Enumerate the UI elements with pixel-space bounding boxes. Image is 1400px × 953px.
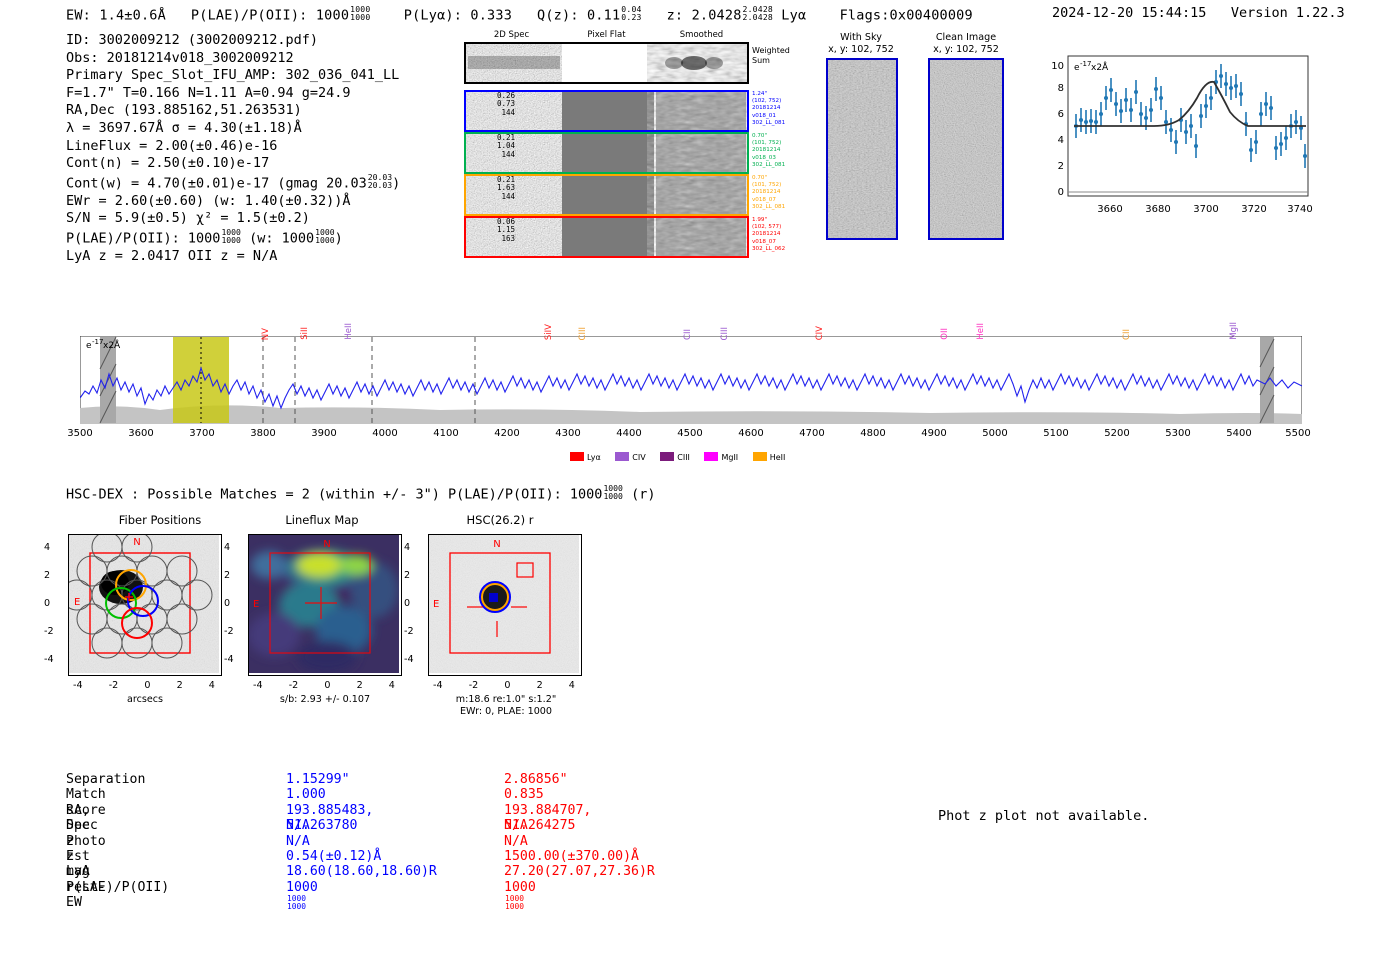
hscdex-plae-range: 10001000 <box>603 484 623 500</box>
cutout-withsky-title: With Skyx, y: 102, 752 <box>806 32 916 55</box>
row-m2-match-score: 0.835 <box>504 787 544 802</box>
hsc-r-yticks: 42 0-2-4 <box>404 534 414 674</box>
info-plae-w-range: 10001000 <box>315 228 335 244</box>
line-label-nv: NV <box>261 328 271 340</box>
info-plae: P(LAE)/P(OII): 100010001000 (w: 10001000… <box>66 228 400 248</box>
info-radec: RA,Dec (193.885162,51.263531) <box>66 102 400 120</box>
panel-title-hsc-r: HSC(26.2) r <box>400 513 600 527</box>
svg-text:N: N <box>133 537 140 548</box>
spectrum-line-labels: NV SiII HeII SiIV CIII CII CIII CIV OII … <box>80 306 1302 340</box>
timestamp-version: 2024-12-20 15:44:15 Version 1.22.3 <box>1052 5 1345 21</box>
info-plae-range: 10001000 <box>221 228 241 244</box>
xtick-4200: 4200 <box>487 428 527 439</box>
fiber-positions-image: N E <box>68 534 222 676</box>
svg-text:10: 10 <box>1051 61 1064 72</box>
col-title-2dspec: 2D Spec <box>464 30 559 40</box>
report-datetime: 2024-12-20 15:44:15 <box>1052 5 1206 21</box>
info-redshifts: LyA z = 2.0417 OII z = N/A <box>66 248 400 266</box>
xtick-5100: 5100 <box>1036 428 1076 439</box>
legend-mgii: MgII <box>704 452 738 462</box>
row-m2-est-lya-ew: 1500.00(±370.00)Å <box>504 849 639 864</box>
line-label-ciii-2: CIII <box>720 327 730 340</box>
row-label-plae: P(LAE)/P(OII) <box>66 880 169 895</box>
row-m1-photo-z: N/A <box>286 834 310 849</box>
xtick-4600: 4600 <box>731 428 771 439</box>
svg-text:4: 4 <box>1058 135 1064 146</box>
qz-range: 0.040.23 <box>621 5 641 21</box>
weighted-sum-label: Weighted Sum <box>752 46 790 66</box>
xtick-4800: 4800 <box>853 428 893 439</box>
xtick-5500: 5500 <box>1278 428 1318 439</box>
plya-label: P(Lyα): <box>404 7 462 23</box>
legend-heii: HeII <box>753 452 786 462</box>
line-label-mgii: MgII <box>1229 322 1239 340</box>
xtick-4700: 4700 <box>792 428 832 439</box>
svg-text:3660: 3660 <box>1097 204 1122 215</box>
xtick-3800: 3800 <box>243 428 283 439</box>
ew-value: 1.4±0.6Å <box>99 7 166 23</box>
legend-ciii: CIII <box>660 452 690 462</box>
line-fit-plot: 024 6810 366036803700 37203740 e -17 x2Å <box>1034 52 1314 224</box>
fiber-positions-xticks: -4-2 024 <box>60 680 228 691</box>
info-seeing-throughput: F=1.7" T=0.166 N=1.11 A=0.94 g=24.9 <box>66 85 400 103</box>
xtick-4900: 4900 <box>914 428 954 439</box>
svg-text:3720: 3720 <box>1241 204 1266 215</box>
xtick-5000: 5000 <box>975 428 1015 439</box>
svg-text:3740: 3740 <box>1287 204 1312 215</box>
row-label-mag: mag <box>66 864 90 879</box>
row-m1-separation: 1.15299" <box>286 772 350 787</box>
legend-swatch-mgii <box>704 452 718 461</box>
svg-text:E: E <box>253 599 259 610</box>
row-m1-plae: 100010001000 <box>286 880 318 913</box>
info-wavelength-sigma: λ = 3697.67Å σ = 4.30(±1.18)Å <box>66 120 400 138</box>
svg-text:2: 2 <box>1058 161 1064 172</box>
row-m2-separation: 2.86856" <box>504 772 568 787</box>
line-label-oii: OII <box>940 328 950 340</box>
col-title-pixelflat: Pixel Flat <box>559 30 654 40</box>
legend-swatch-heii <box>753 452 767 461</box>
col-title-smoothed: Smoothed <box>654 30 749 40</box>
fiber-strip-1-meta: 1.24"(102, 752) 20181214v018_01302_LL_08… <box>752 91 785 127</box>
lineflux-map-caption: s/b: 2.93 +/- 0.107 <box>240 694 410 706</box>
hscdex-match-summary: HSC-DEX : Possible Matches = 2 (within +… <box>66 484 655 502</box>
row-m2-plae: 100010001000 <box>504 880 536 913</box>
svg-text:3700: 3700 <box>1193 204 1218 215</box>
row-m2-mag: 27.20(27.07,27.36)R <box>504 864 655 879</box>
svg-text:0: 0 <box>1058 187 1064 198</box>
svg-text:N: N <box>323 539 330 550</box>
flags-label: Flags:0x00400009 <box>840 7 973 23</box>
hsc-r-image: N E <box>428 534 582 676</box>
z-value: 2.0428 <box>692 7 742 23</box>
xtick-4400: 4400 <box>609 428 649 439</box>
svg-text:E: E <box>74 597 80 608</box>
xtick-5400: 5400 <box>1219 428 1259 439</box>
line-label-siiv: SiIV <box>544 324 554 340</box>
qz-value: 0.11 <box>587 7 620 23</box>
cutout-clean-image <box>928 58 1004 240</box>
fiber-strip-1-metrics: 0.260.73144 <box>497 92 515 117</box>
full-spectrum-plot: 510 e -17 x2Å <box>80 336 1302 424</box>
hsc-r-caption-line2: EWr: 0, PLAE: 1000 <box>418 706 594 718</box>
fiber-strip-4-metrics: 0.061.15163 <box>497 218 515 243</box>
legend-swatch-civ <box>615 452 629 461</box>
lineflux-map-xticks: -4-2 024 <box>240 680 408 691</box>
plae-label: P(LAE)/P(OII): <box>191 7 308 23</box>
hsc-r-caption: m:18.6 re:1.0" s:1.2" EWr: 0, PLAE: 1000 <box>418 694 594 718</box>
weighted-sum-strip <box>464 42 749 84</box>
panel-title-lineflux-map: Lineflux Map <box>222 513 422 527</box>
spectrum-legend: Lyα CIV CIII MgII HeII <box>570 452 797 462</box>
qz-label: Q(z): <box>537 7 579 23</box>
fiber-strip-3-metrics: 0.211.63144 <box>497 176 515 201</box>
xtick-3500: 3500 <box>60 428 100 439</box>
fiber-positions-yticks: 42 0-2-4 <box>44 534 54 674</box>
weighted-sum-image <box>466 44 747 82</box>
lineflux-map-image: N E <box>248 534 402 676</box>
z-label: z: <box>667 7 684 23</box>
xtick-3700: 3700 <box>182 428 222 439</box>
full-spectrum-svg: 510 e -17 x2Å <box>80 336 1302 424</box>
ew-label: EW: <box>66 7 91 23</box>
info-id: ID: 3002009212 (3002009212.pdf) <box>66 32 400 50</box>
plya-value: 0.333 <box>470 7 512 23</box>
fiber-strip-2-meta: 0.70"(101, 752) 20181214v018_03302_LL_08… <box>752 133 785 169</box>
info-sn-chi2: S/N = 5.9(±0.5) χ² = 1.5(±0.2) <box>66 210 400 228</box>
z-line-name: Lyα <box>781 7 806 23</box>
source-info-block: ID: 3002009212 (3002009212.pdf) Obs: 201… <box>66 32 400 265</box>
row-label-separation: Separation <box>66 772 145 787</box>
svg-text:3680: 3680 <box>1145 204 1170 215</box>
info-ewr: EWr = 2.60(±0.60) (w: 1.40(±0.32))Å <box>66 193 400 211</box>
line-fit-svg: 024 6810 366036803700 37203740 e -17 x2Å <box>1034 52 1314 224</box>
lineflux-map-yticks: 42 0-2-4 <box>224 534 234 674</box>
photz-unavailable-note: Phot z plot not available. <box>938 808 1149 824</box>
svg-text:x2Å: x2Å <box>1091 61 1109 73</box>
cutout-clean-title: Clean Imagex, y: 102, 752 <box>906 32 1026 55</box>
plae-value: 1000 <box>316 7 349 23</box>
row-m1-spec-z: N/A <box>286 818 310 833</box>
hscdex-text: HSC-DEX : Possible Matches = 2 (within +… <box>66 486 602 502</box>
z-range: 2.04282.0428 <box>743 5 773 21</box>
hsc-r-caption-line1: m:18.6 re:1.0" s:1.2" <box>418 694 594 706</box>
spectrum-xaxis: 3500 3600 3700 3800 3900 4000 4100 4200 … <box>80 428 1302 446</box>
svg-text:-17: -17 <box>1080 60 1091 68</box>
line-label-cii-1: CII <box>683 329 693 340</box>
legend-lya: Lyα <box>570 452 601 462</box>
xtick-5300: 5300 <box>1158 428 1198 439</box>
info-primary-spec: Primary Spec_Slot_IFU_AMP: 302_036_041_L… <box>66 67 400 85</box>
cutout-withsky-image <box>826 58 898 240</box>
line-label-cii-2: CII <box>1122 329 1132 340</box>
svg-text:8: 8 <box>1058 83 1064 94</box>
row-m1-mag: 18.60(18.60,18.60)R <box>286 864 437 879</box>
xtick-4100: 4100 <box>426 428 466 439</box>
fiber-strip-4-meta: 1.99"(102, 577) 20181214v018_07302_LL_06… <box>752 217 785 253</box>
spec2d-panel-group: 2D Spec Pixel Flat Smoothed Weighted <box>420 30 810 260</box>
info-obs: Obs: 20181214v018_3002009212 <box>66 50 400 68</box>
fiber-strip-3-meta: 0.70"(101, 752) 20181214v018_07302_LL_08… <box>752 175 785 211</box>
line-label-siii: SiII <box>300 327 310 340</box>
fiber-strip-2-metrics: 0.211.04144 <box>497 134 515 159</box>
hscdex-filter: (r) <box>631 486 655 502</box>
info-lineflux: LineFlux = 2.00(±0.46)e-16 <box>66 138 400 156</box>
row-m2-spec-z: N/A <box>504 818 528 833</box>
row-m1-match-score: 1.000 <box>286 787 326 802</box>
svg-text:x2Å: x2Å <box>103 339 121 351</box>
xtick-5200: 5200 <box>1097 428 1137 439</box>
svg-text:E: E <box>433 599 439 610</box>
line-label-civ: CIV <box>815 326 825 340</box>
xtick-4500: 4500 <box>670 428 710 439</box>
row-m1-est-lya-ew: 0.54(±0.12)Å <box>286 849 381 864</box>
header-summary-line: EW: 1.4±0.6Å P(LAE)/P(OII): 100010001000… <box>66 5 973 23</box>
line-label-heii-1: HeII <box>344 323 354 340</box>
row-m2-photo-z: N/A <box>504 834 528 849</box>
plae-range: 10001000 <box>350 5 370 21</box>
info-cont-wide: Cont(w) = 4.70(±0.01)e-17 (gmag 20.0320.… <box>66 173 400 193</box>
xtick-3600: 3600 <box>121 428 161 439</box>
xtick-4300: 4300 <box>548 428 588 439</box>
legend-swatch-lya <box>570 452 584 461</box>
svg-text:N: N <box>493 539 500 550</box>
line-label-heii-2: HeII <box>976 323 986 340</box>
gmag-range: 20.0320.03 <box>368 173 392 189</box>
version-label: Version 1.22.3 <box>1231 5 1345 21</box>
legend-swatch-ciii <box>660 452 674 461</box>
fiber-positions-caption: arcsecs <box>60 694 230 706</box>
svg-text:6: 6 <box>1058 109 1064 120</box>
hsc-r-xticks: -4-2 024 <box>420 680 588 691</box>
info-cont-narrow: Cont(n) = 2.50(±0.10)e-17 <box>66 155 400 173</box>
legend-civ: CIV <box>615 452 645 462</box>
line-label-ciii-1: CIII <box>578 327 588 340</box>
xtick-3900: 3900 <box>304 428 344 439</box>
xtick-4000: 4000 <box>365 428 405 439</box>
